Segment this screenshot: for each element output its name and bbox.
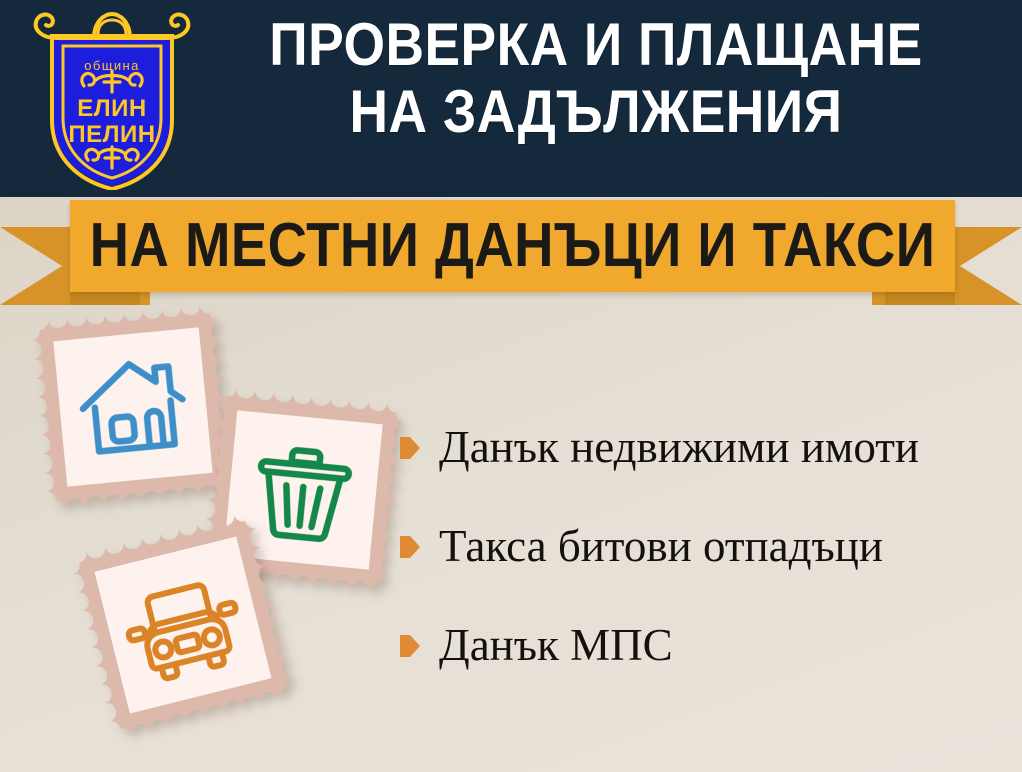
coat-of-arms: община ЕЛИН ПЕЛИН	[32, 8, 192, 190]
title-line-1: ПРОВЕРКА И ПЛАЩАНЕ	[240, 16, 952, 74]
list-item-label: Данък недвижими имоти	[439, 424, 919, 471]
title-line-2: НА ЗАДЪЛЖЕНИЯ	[240, 83, 952, 141]
tax-types-list: Данък недвижими имоти Такса битови отпад…	[400, 425, 1010, 722]
ribbon-body: НА МЕСТНИ ДАНЪЦИ И ТАКСИ	[70, 200, 955, 292]
stamp-cards-group	[0, 300, 420, 772]
house-stamp	[29, 303, 236, 510]
list-item[interactable]: Такса битови отпадъци	[400, 524, 1010, 570]
poster-root: община ЕЛИН ПЕЛИН	[0, 0, 1022, 772]
list-item-label: Такса битови отпадъци	[439, 523, 883, 570]
header-banner: община ЕЛИН ПЕЛИН	[0, 0, 1022, 197]
arrow-bullet-icon	[400, 536, 420, 558]
list-item[interactable]: Данък недвижими имоти	[400, 425, 1010, 471]
svg-text:ЕЛИН: ЕЛИН	[77, 95, 146, 122]
arrow-bullet-icon	[400, 635, 420, 657]
svg-text:ПЕЛИН: ПЕЛИН	[68, 121, 155, 148]
list-item[interactable]: Данък МПС	[400, 623, 1010, 669]
ribbon-label: НА МЕСТНИ ДАНЪЦИ И ТАКСИ	[90, 215, 936, 277]
list-item-label: Данък МПС	[439, 622, 673, 669]
page-title: ПРОВЕРКА И ПЛАЩАНЕ НА ЗАДЪЛЖЕНИЯ	[196, 16, 996, 141]
arrow-bullet-icon	[400, 437, 420, 459]
